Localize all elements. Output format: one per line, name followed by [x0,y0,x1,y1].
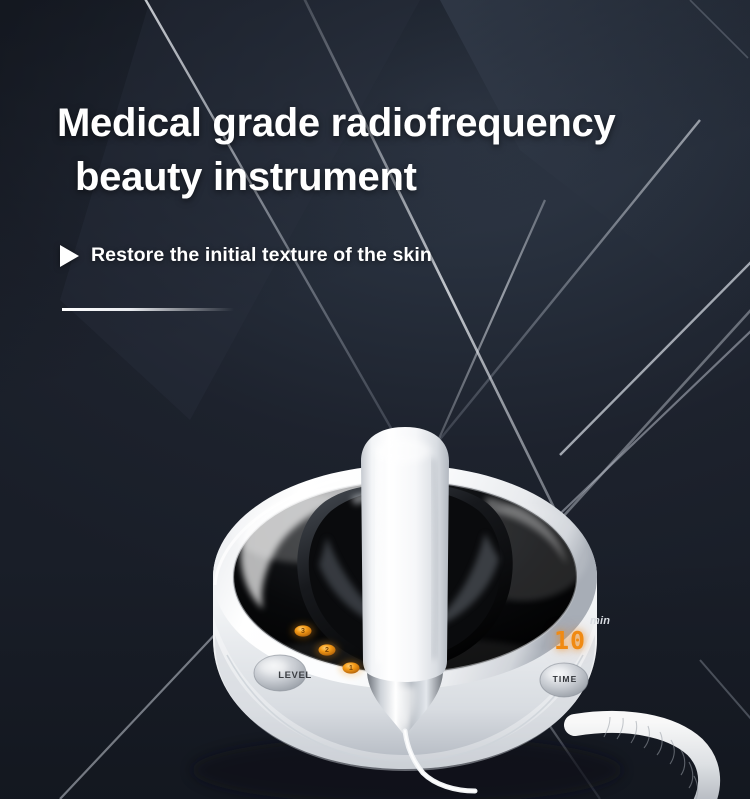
hero-subtitle-row: Restore the initial texture of the skin [60,244,432,267]
time-display-value: 10 [554,626,586,655]
device-illustration [155,425,715,799]
time-button [540,663,588,697]
hero-title-line-2: beauty instrument [57,150,717,204]
play-triangle-icon [60,245,79,267]
hero-subtitle: Restore the initial texture of the skin [91,244,432,267]
hero-underline [62,308,234,311]
product-banner: Medical grade radiofrequency beauty inst… [0,0,750,799]
hero-title: Medical grade radiofrequency beauty inst… [57,96,717,204]
level-led-3-number: 3 [297,628,309,635]
hero-title-line-1: Medical grade radiofrequency [57,101,615,145]
level-led-2-number: 2 [321,647,333,654]
level-led-1-number: 1 [345,665,357,672]
level-button [254,655,306,691]
